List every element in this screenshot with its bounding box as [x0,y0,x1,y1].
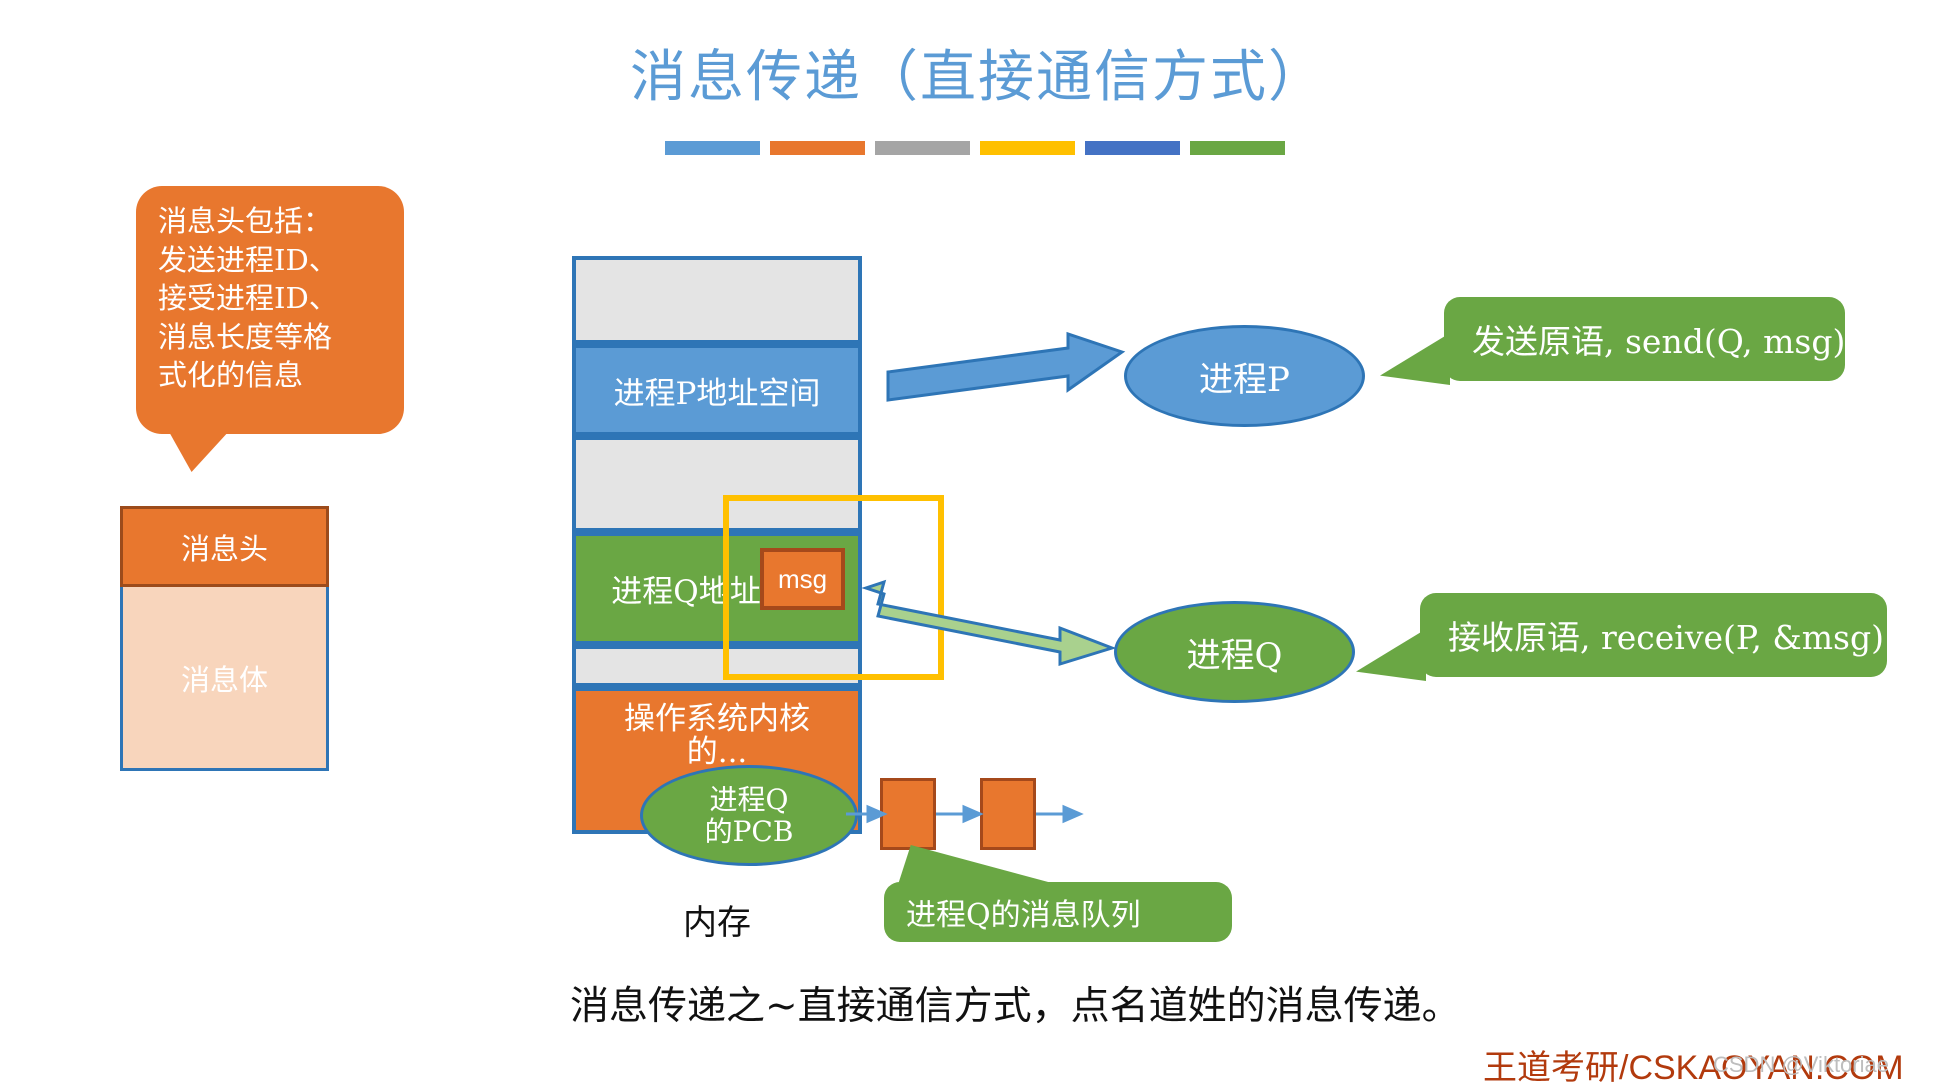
memory-block-os-kernel-label: 操作系统内核 的... [624,703,810,770]
msg-box: msg [760,548,845,610]
slide-caption: 消息传递之~直接通信方式，点名道姓的消息传递。 [570,975,1461,1031]
process-q-label: 进程Q [1187,628,1283,677]
accent-bar-1 [665,141,760,155]
receive-primitive-callout: 接收原语, receive(P, &msg) [1420,593,1887,677]
send-arrow [888,334,1122,400]
message-queue-text: 进程Q的消息队列 [906,890,1141,934]
send-callout-tail [1380,333,1450,385]
message-queue-node-1 [880,778,936,850]
process-p-ellipse: 进程P [1124,325,1365,427]
message-queue-node-2 [980,778,1036,850]
message-header-callout: 消息头包括： 发送进程ID、 接受进程ID、 消息长度等格 式化的信息 [136,186,404,434]
page-title: 消息传递（直接通信方式） [0,32,1956,113]
message-body-label: 消息体 [181,657,268,699]
message-header-box: 消息头 [120,506,329,587]
accent-bar-6 [1190,141,1285,155]
receive-primitive-text: 接收原语, receive(P, &msg) [1448,611,1884,659]
process-p-label: 进程P [1199,352,1290,401]
accent-bar-4 [980,141,1075,155]
memory-block-process-p: 进程P地址空间 [572,344,862,436]
memory-block-free-1 [572,256,862,344]
message-header-label: 消息头 [181,526,268,568]
pcb-label-line1: 进程Q [710,784,789,815]
accent-bar-2 [770,141,865,155]
send-primitive-text: 发送原语, send(Q, msg) [1472,315,1845,363]
message-body-box: 消息体 [120,587,329,771]
memory-caption: 内存 [572,895,862,944]
send-primitive-callout: 发送原语, send(Q, msg) [1444,297,1845,381]
message-header-callout-text: 消息头包括： 发送进程ID、 接受进程ID、 消息长度等格 式化的信息 [158,202,390,395]
memory-block-process-p-label: 进程P地址空间 [614,368,821,413]
slide-canvas: 消息传递（直接通信方式） 消息头包括： 发送进程ID、 接受进程ID、 消息长度… [0,0,1956,1092]
pcb-label-line2: 的PCB [705,816,794,847]
accent-bar-5 [1085,141,1180,155]
msg-box-label: msg [778,564,827,595]
title-accent-bars [665,141,1285,155]
process-q-ellipse: 进程Q [1114,601,1355,703]
process-q-pcb-ellipse: 进程Q 的PCB [640,765,858,866]
receive-callout-tail [1356,629,1426,681]
message-header-callout-tail [168,430,230,472]
watermark-author: CSDN @Viktoriae [1713,1052,1889,1078]
accent-bar-3 [875,141,970,155]
message-queue-callout: 进程Q的消息队列 [884,882,1232,942]
